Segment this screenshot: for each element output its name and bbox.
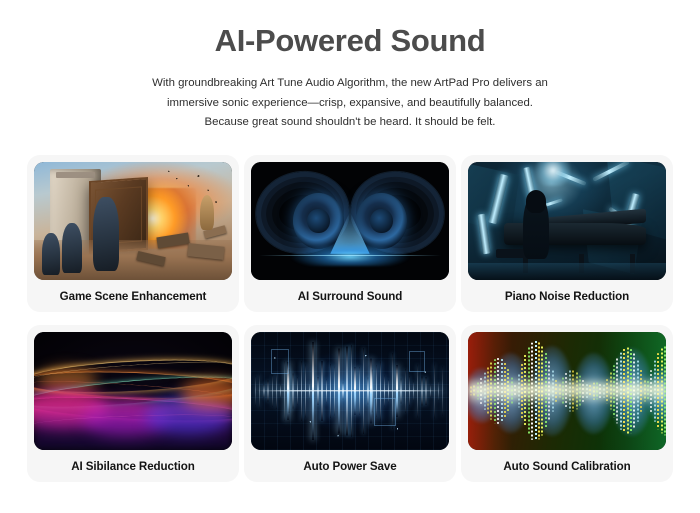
subtitle-line-1: With groundbreaking Art Tune Audio Algor… <box>0 74 700 94</box>
feature-card-label: Auto Sound Calibration <box>468 450 666 482</box>
feature-card-ai-surround-sound[interactable]: AI Surround Sound <box>244 155 456 312</box>
feature-card-label: AI Sibilance Reduction <box>34 450 232 482</box>
feature-card-auto-power-save[interactable]: Auto Power Save <box>244 325 456 482</box>
auto-power-save-image <box>251 332 449 450</box>
page-subtitle: With groundbreaking Art Tune Audio Algor… <box>0 74 700 133</box>
feature-card-label: AI Surround Sound <box>251 280 449 312</box>
feature-card-grid: Game Scene Enhancement AI Surround Sound <box>27 155 673 482</box>
game-scene-image <box>34 162 232 280</box>
page-title: AI-Powered Sound <box>0 22 700 60</box>
auto-sound-calibration-image <box>468 332 666 450</box>
subtitle-line-3: Because great sound shouldn't be heard. … <box>0 113 700 133</box>
surround-sound-image <box>251 162 449 280</box>
feature-card-auto-sound-calibration[interactable]: Auto Sound Calibration <box>461 325 673 482</box>
ai-powered-sound-page: AI-Powered Sound With groundbreaking Art… <box>0 0 700 513</box>
feature-card-label: Auto Power Save <box>251 450 449 482</box>
subtitle-line-2: immersive sonic experience—crisp, expans… <box>0 94 700 114</box>
feature-card-game-scene-enhancement[interactable]: Game Scene Enhancement <box>27 155 239 312</box>
feature-card-piano-noise-reduction[interactable]: Piano Noise Reduction <box>461 155 673 312</box>
sibilance-reduction-image <box>34 332 232 450</box>
page-header: AI-Powered Sound With groundbreaking Art… <box>0 0 700 133</box>
piano-noise-image <box>468 162 666 280</box>
feature-card-label: Piano Noise Reduction <box>468 280 666 312</box>
feature-card-ai-sibilance-reduction[interactable]: AI Sibilance Reduction <box>27 325 239 482</box>
feature-card-label: Game Scene Enhancement <box>34 280 232 312</box>
